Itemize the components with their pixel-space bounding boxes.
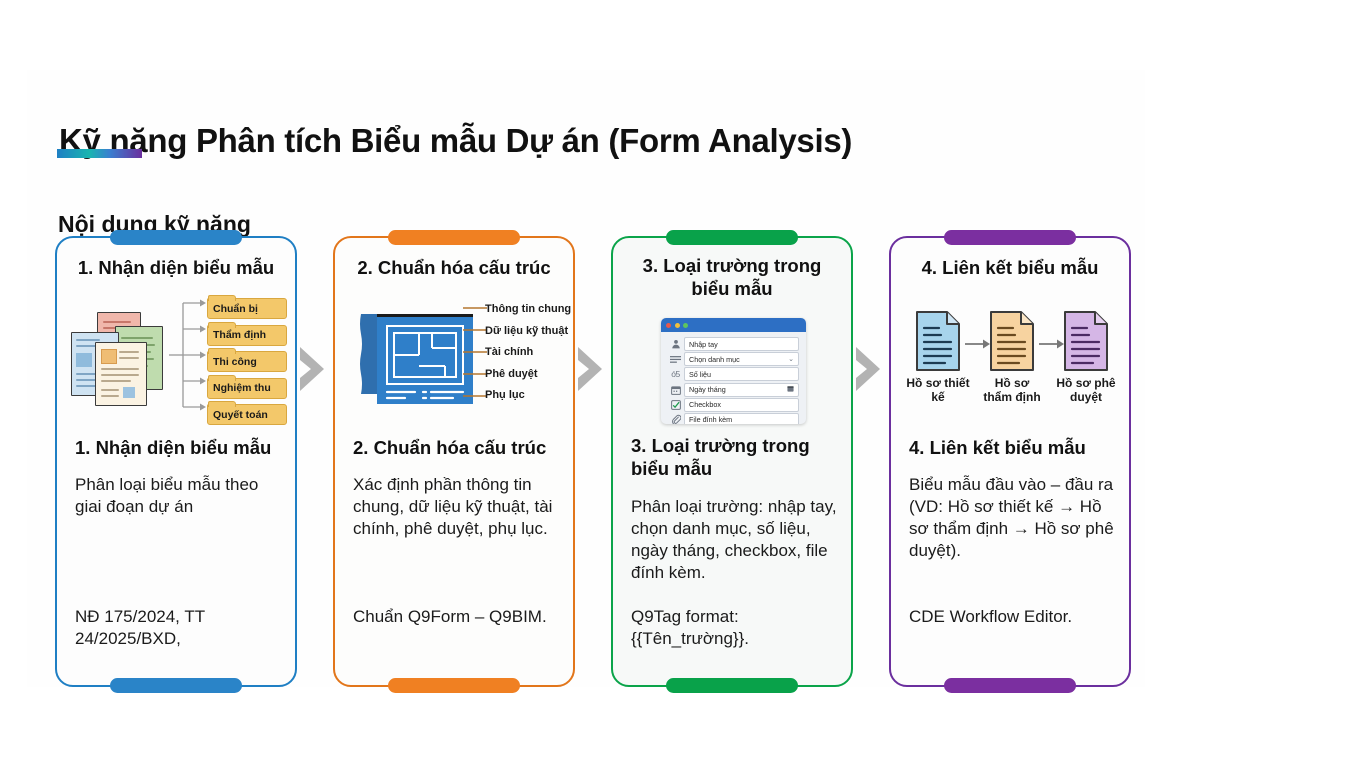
select-field[interactable]: Chọn danh mục ⌄: [684, 352, 799, 366]
field-label: File đính kèm: [689, 415, 732, 424]
card-subheading: 1. Nhận diện biểu mẫu: [75, 436, 281, 459]
document-stack-icon: [71, 312, 167, 404]
folder-quyet-toan: Quyết toán: [207, 404, 287, 425]
slide-canvas: Kỹ năng Phân tích Biểu mẫu Dự án (Form A…: [27, 70, 1145, 687]
number-icon: ó5: [667, 369, 684, 379]
calendar-icon: [787, 385, 794, 394]
connector-chevron-3: [854, 346, 884, 392]
card-heading: 3. Loại trường trong biểu mẫu: [627, 254, 837, 300]
connector-chevron-1: [298, 346, 328, 392]
document-front-icon: [95, 342, 147, 406]
title-accent-rule: [57, 149, 142, 158]
callout-leader-lines: [463, 304, 487, 400]
close-dot-icon: [666, 323, 671, 328]
card-subheading: 2. Chuẩn hóa cấu trúc: [353, 436, 559, 459]
document-label-thiet-ke: Hồ sơ thiết kế: [905, 376, 971, 404]
card-lien-ket-bieu-mau[interactable]: 4. Liên kết biểu mẫu Hồ sơ thiết kế: [889, 236, 1131, 687]
blueprint-label-thong-tin-chung: Thông tin chung: [485, 304, 581, 315]
form-mockup-window: Nhập tay Chọn danh mục ⌄ ó5: [661, 318, 806, 424]
card-footnote: NĐ 175/2024, TT 24/2025/BXD,: [75, 606, 283, 650]
card-pill-bottom: [388, 678, 520, 693]
folder-label: Thi công: [208, 356, 257, 368]
form-field-rows: Nhập tay Chọn danh mục ⌄ ó5: [661, 332, 806, 424]
folder-list: Chuẩn bị Thẩm định Thi công Nghiệm thu Q…: [207, 298, 287, 431]
form-row-chon-danh-muc: Chọn danh mục ⌄: [667, 353, 799, 365]
blueprint-illustration: Thông tin chung Dữ liệu kỹ thuật Tài chí…: [335, 296, 573, 420]
page-title: Kỹ năng Phân tích Biểu mẫu Dự án (Form A…: [59, 122, 852, 160]
file-field[interactable]: File đính kèm: [684, 413, 799, 424]
card-subheading: 4. Liên kết biểu mẫu: [909, 436, 1115, 459]
field-label: Chọn danh mục: [689, 355, 740, 364]
paperclip-icon: [667, 414, 684, 424]
document-tham-dinh-icon: [989, 310, 1035, 372]
folder-tham-dinh: Thẩm định: [207, 325, 287, 346]
window-titlebar: [661, 318, 806, 332]
checkbox-field[interactable]: Checkbox: [684, 398, 799, 412]
blueprint-label-list: Thông tin chung Dữ liệu kỹ thuật Tài chí…: [485, 304, 581, 412]
document-phe-duyet-icon: [1063, 310, 1109, 372]
checkbox-icon: [667, 400, 684, 410]
minimize-dot-icon: [675, 323, 680, 328]
card-nhan-dien-bieu-mau[interactable]: 1. Nhận diện biểu mẫu: [55, 236, 297, 687]
form-row-ngay-thang: Ngày tháng: [667, 384, 799, 396]
form-window-illustration: Nhập tay Chọn danh mục ⌄ ó5: [613, 308, 851, 426]
arrow-right-icon: [1039, 338, 1065, 350]
folder-label: Chuẩn bị: [208, 303, 258, 315]
document-chain: Hồ sơ thiết kế Hồ sơ thẩm định: [907, 310, 1117, 414]
field-label: Nhập tay: [689, 340, 718, 349]
field-label: Số liệu: [689, 370, 711, 379]
card-pill-top: [110, 230, 242, 245]
folder-label: Thẩm định: [208, 329, 266, 341]
card-body-text: Phân loại biểu mẫu theo giai đoạn dự án: [75, 474, 283, 518]
card-pill-top: [666, 230, 798, 245]
document-label-phe-duyet: Hồ sơ phê duyệt: [1053, 376, 1119, 404]
folder-label: Quyết toán: [208, 409, 268, 421]
person-icon: [667, 339, 684, 349]
arrow-right-icon: [965, 338, 991, 350]
field-label: Checkbox: [689, 400, 721, 409]
card-pill-top: [944, 230, 1076, 245]
maximize-dot-icon: [683, 323, 688, 328]
card-body-text: Biểu mẫu đầu vào – đầu ra (VD: Hồ sơ thi…: [909, 474, 1117, 562]
form-row-file-dinh-kem: File đính kèm: [667, 414, 799, 424]
card-heading: 2. Chuẩn hóa cấu trúc: [349, 256, 559, 280]
document-label-tham-dinh: Hồ sơ thẩm định: [979, 376, 1045, 404]
blueprint-label-tai-chinh: Tài chính: [485, 347, 581, 358]
documents-to-folders-illustration: Chuẩn bị Thẩm định Thi công Nghiệm thu Q…: [57, 296, 295, 420]
card-pill-bottom: [944, 678, 1076, 693]
card-heading: 1. Nhận diện biểu mẫu: [71, 256, 281, 280]
date-input-field[interactable]: Ngày tháng: [684, 383, 799, 397]
card-pill-top: [388, 230, 520, 245]
blueprint-icon: [357, 308, 477, 410]
document-chain-illustration: Hồ sơ thiết kế Hồ sơ thẩm định: [891, 296, 1129, 420]
connector-chevron-2: [576, 346, 606, 392]
form-row-so-lieu: ó5 Số liệu: [667, 368, 799, 380]
card-chuan-hoa-cau-truc[interactable]: 2. Chuẩn hóa cấu trúc: [333, 236, 575, 687]
field-label: Ngày tháng: [689, 385, 726, 394]
text-input-field[interactable]: Nhập tay: [684, 337, 799, 351]
document-thiet-ke-icon: [915, 310, 961, 372]
number-input-field[interactable]: Số liệu: [684, 367, 799, 381]
folder-thi-cong: Thi công: [207, 351, 287, 372]
card-subheading: 3. Loại trường trong biểu mẫu: [631, 434, 837, 481]
blueprint-label-phu-luc: Phụ lục: [485, 390, 581, 401]
chevron-down-icon: ⌄: [788, 355, 794, 363]
list-icon: [667, 355, 684, 364]
form-row-nhap-tay: Nhập tay: [667, 338, 799, 350]
folder-chuan-bi: Chuẩn bị: [207, 298, 287, 319]
form-row-checkbox: Checkbox: [667, 399, 799, 411]
card-footnote: Q9Tag format: {{Tên_trường}}.: [631, 606, 839, 650]
card-body-text: Xác định phần thông tin chung, dữ liệu k…: [353, 474, 561, 540]
blueprint-label-phe-duyet: Phê duyệt: [485, 369, 581, 380]
card-loai-truong[interactable]: 3. Loại trường trong biểu mẫu Nhập tay: [611, 236, 853, 687]
card-heading: 4. Liên kết biểu mẫu: [905, 256, 1115, 280]
card-footnote: Chuẩn Q9Form – Q9BIM.: [353, 606, 561, 628]
blueprint-label-du-lieu-ky-thuat: Dữ liệu kỹ thuật: [485, 326, 581, 337]
folder-label: Nghiệm thu: [208, 382, 271, 394]
card-pill-bottom: [666, 678, 798, 693]
branch-connector-icon: [169, 296, 209, 414]
calendar-icon: [667, 385, 684, 395]
card-footnote: CDE Workflow Editor.: [909, 606, 1117, 628]
card-pill-bottom: [110, 678, 242, 693]
folder-nghiem-thu: Nghiệm thu: [207, 378, 287, 399]
card-body-text: Phân loại trường: nhập tay, chọn danh mụ…: [631, 496, 839, 584]
